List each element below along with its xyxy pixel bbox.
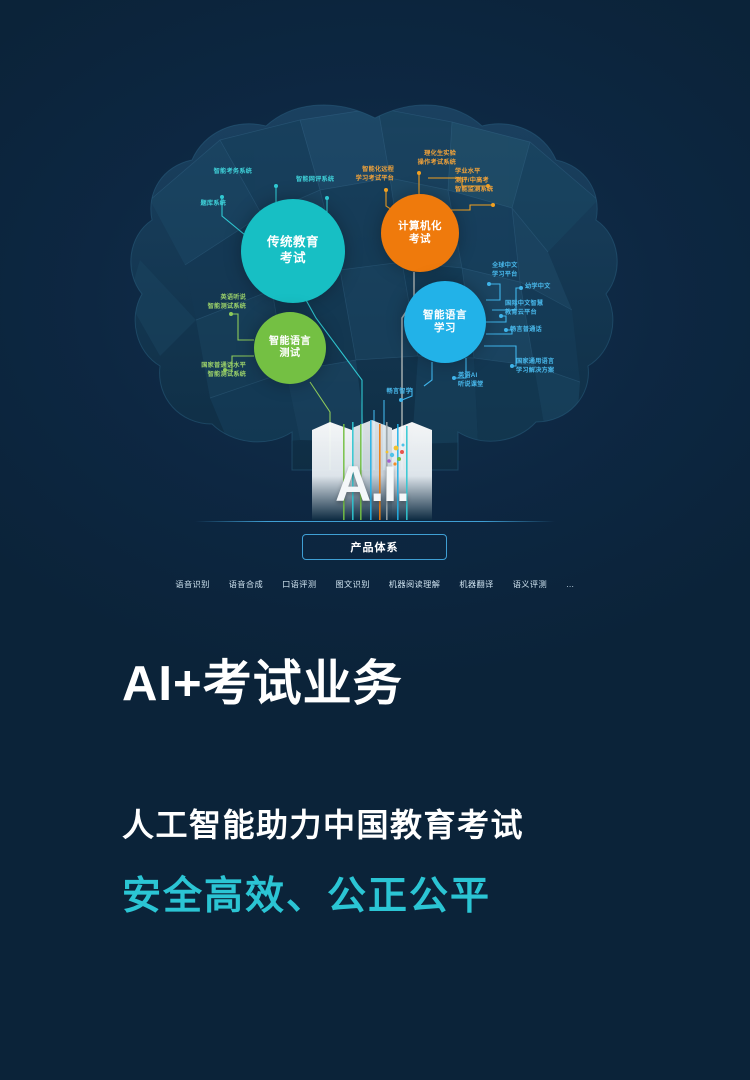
- node-label-line1: 智能语言: [423, 309, 467, 322]
- leaf-label-question-bank: 题库系统: [180, 200, 226, 209]
- page-title: AI+考试业务: [122, 660, 750, 709]
- leaf-dot-intl-chinese-cloud: [499, 314, 503, 318]
- leaf-label-english-ai-class: 英语AI 听说课堂: [458, 372, 502, 390]
- node-label-line2: 考试: [280, 251, 306, 267]
- product-system-badge[interactable]: 产品体系: [302, 534, 447, 560]
- leaf-label-academic-level-monitor: 学业水平 测评/中高考 智能监测系统: [455, 168, 517, 195]
- leaf-label-changyan-smart-learning: 畅言智学: [368, 388, 412, 397]
- leaf-label-intl-chinese-cloud: 国际中文智慧 教育云平台: [505, 300, 563, 318]
- tag-item[interactable]: 语音合成: [229, 578, 263, 590]
- node-label-line1: 计算机化: [398, 220, 442, 233]
- tag-item[interactable]: 图文识别: [335, 578, 369, 590]
- node-label-line1: 智能语言: [269, 336, 311, 349]
- node-traditional-education-exam[interactable]: 传统教育 考试: [241, 199, 345, 303]
- leaf-dot-academic-level-b: [491, 203, 495, 207]
- infographic-stage: 传统教育 考试 计算机化 考试 智能语言 学习 智能语言 测试: [0, 0, 750, 640]
- subtitle-accent: 安全高效、公正公平: [122, 841, 750, 916]
- leaf-label-lab-operation-exam: 理化生实验 操作考试系统: [398, 150, 456, 168]
- leaf-dot-remote-learning-exam-platform: [384, 188, 388, 192]
- tag-item[interactable]: 口语评测: [282, 578, 316, 590]
- node-computerized-exam[interactable]: 计算机化 考试: [381, 194, 459, 272]
- ai-logo-text: A.I.: [312, 455, 432, 513]
- leaf-label-smart-exam-affairs: 智能考务系统: [190, 168, 252, 177]
- leaf-label-remote-learning-exam-platform: 智能化远程 学习考试平台: [336, 166, 394, 184]
- leaf-label-changyan-mandarin: 畅言普通话: [510, 326, 564, 335]
- base-divider: [195, 521, 555, 522]
- node-label-line2: 考试: [409, 233, 431, 246]
- subtitle-primary: 人工智能助力中国教育考试: [122, 709, 750, 841]
- leaf-label-kids-chinese: 幼学中文: [525, 283, 571, 292]
- leaf-dot-kids-chinese: [519, 286, 523, 290]
- leaf-dot-changyan-smart-learning: [399, 398, 403, 402]
- leaf-label-global-chinese-platform: 全球中文 学习平台: [492, 262, 542, 280]
- tag-item: …: [566, 580, 575, 589]
- node-label-line2: 学习: [434, 322, 456, 335]
- leaf-dot-question-bank: [274, 184, 278, 188]
- node-label-line1: 传统教育: [267, 235, 319, 251]
- headline-block: AI+考试业务 人工智能助力中国教育考试 安全高效、公正公平: [0, 660, 750, 916]
- leaf-dot-lab-operation-exam: [417, 171, 421, 175]
- node-smart-language-learning[interactable]: 智能语言 学习: [404, 281, 486, 363]
- leaf-label-mandarin-proficiency-test: 国家普通话水平 智能测试系统: [178, 362, 246, 380]
- leaf-dot-smart-exam-affairs: [220, 195, 224, 199]
- leaf-dot-changyan-mandarin: [504, 328, 508, 332]
- leaf-dot-national-language-solution: [510, 364, 514, 368]
- leaf-label-national-language-solution: 国家通用语言 学习解决方案: [516, 358, 574, 376]
- ai-logo: A.I.: [312, 421, 432, 521]
- capability-tag-list: 语音识别 语音合成 口语评测 图文识别 机器阅读理解 机器翻译 语义评测 …: [0, 578, 750, 590]
- leaf-dot-smart-online-marking: [325, 196, 329, 200]
- poster-root: 传统教育 考试 计算机化 考试 智能语言 学习 智能语言 测试: [0, 0, 750, 1080]
- tag-item[interactable]: 机器翻译: [459, 578, 493, 590]
- product-system-label: 产品体系: [351, 539, 399, 555]
- tag-item[interactable]: 机器阅读理解: [389, 578, 441, 590]
- tag-item[interactable]: 语音识别: [175, 578, 209, 590]
- node-label-line2: 测试: [280, 348, 301, 361]
- tag-item[interactable]: 语义评测: [513, 578, 547, 590]
- leaf-dot-global-chinese-platform: [487, 282, 491, 286]
- leaf-dot-english-listening-test: [229, 312, 233, 316]
- leaf-label-english-listening-speaking-test: 英语听说 智能测试系统: [190, 294, 246, 312]
- node-smart-language-test[interactable]: 智能语言 测试: [254, 312, 326, 384]
- leaf-dot-english-ai-class: [452, 376, 456, 380]
